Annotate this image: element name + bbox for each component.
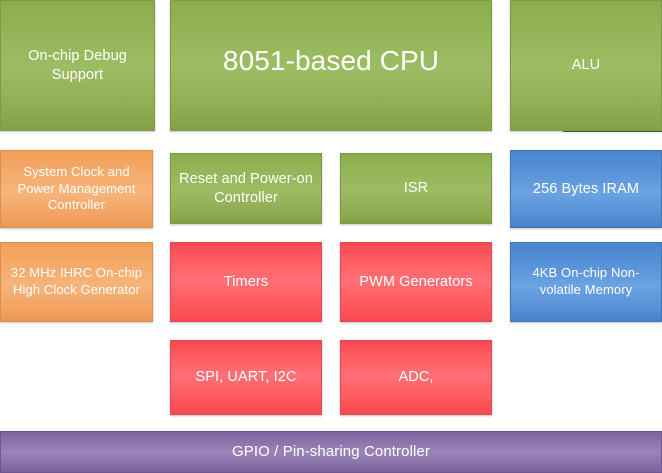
block-label-cpu: 8051-based CPU — [171, 43, 491, 79]
block-isr[interactable]: ISR — [340, 153, 492, 224]
block-256-bytes-iram[interactable]: 256 Bytes IRAM — [510, 150, 662, 228]
block-label-isr: ISR — [404, 179, 428, 198]
block-label-system-clock: System Clock and Power Management Contro… — [7, 164, 146, 214]
block-4kb-non-volatile-memory[interactable]: 4KB On-chip Non-volatile Memory — [510, 242, 662, 322]
block-label-iram: 256 Bytes IRAM — [533, 180, 639, 199]
block-label-gpio: GPIO / Pin-sharing Controller — [232, 442, 430, 461]
block-label-timers: Timers — [224, 273, 268, 292]
block-alu[interactable]: ALU — [510, 0, 662, 131]
block-label-pwm: PWM Generators — [359, 273, 472, 292]
block-label-nvm: 4KB On-chip Non-volatile Memory — [517, 265, 655, 298]
block-spi-uart-i2c[interactable]: SPI, UART, I2C — [170, 340, 322, 415]
block-system-clock-power-management[interactable]: System Clock and Power Management Contro… — [0, 150, 153, 228]
block-adc[interactable]: ADC, — [340, 340, 492, 415]
block-pwm-generators[interactable]: PWM Generators — [340, 242, 492, 322]
block-label-debug-support: On-chip Debug Support — [7, 47, 148, 84]
block-label-serial: SPI, UART, I2C — [195, 368, 296, 387]
block-label-adc: ADC, — [398, 368, 433, 387]
block-on-chip-debug-support[interactable]: On-chip Debug Support — [0, 0, 155, 131]
block-label-ihrc: 32 MHz IHRC On-chip High Clock Generator — [7, 265, 146, 298]
block-label-alu: ALU — [572, 56, 601, 75]
block-32mhz-ihrc-clock-generator[interactable]: 32 MHz IHRC On-chip High Clock Generator — [0, 242, 153, 322]
soc-block-diagram: On-chip Debug Support 8051-based CPU Acc… — [0, 0, 662, 473]
block-timers[interactable]: Timers — [170, 242, 322, 322]
block-reset-power-on-controller[interactable]: Reset and Power-on Controller — [170, 153, 322, 224]
block-label-reset-controller: Reset and Power-on Controller — [177, 170, 315, 207]
block-8051-cpu[interactable]: 8051-based CPU Accumulator PC, SP, DPTR — [170, 0, 492, 131]
block-gpio-pin-sharing-controller[interactable]: GPIO / Pin-sharing Controller — [0, 431, 662, 473]
